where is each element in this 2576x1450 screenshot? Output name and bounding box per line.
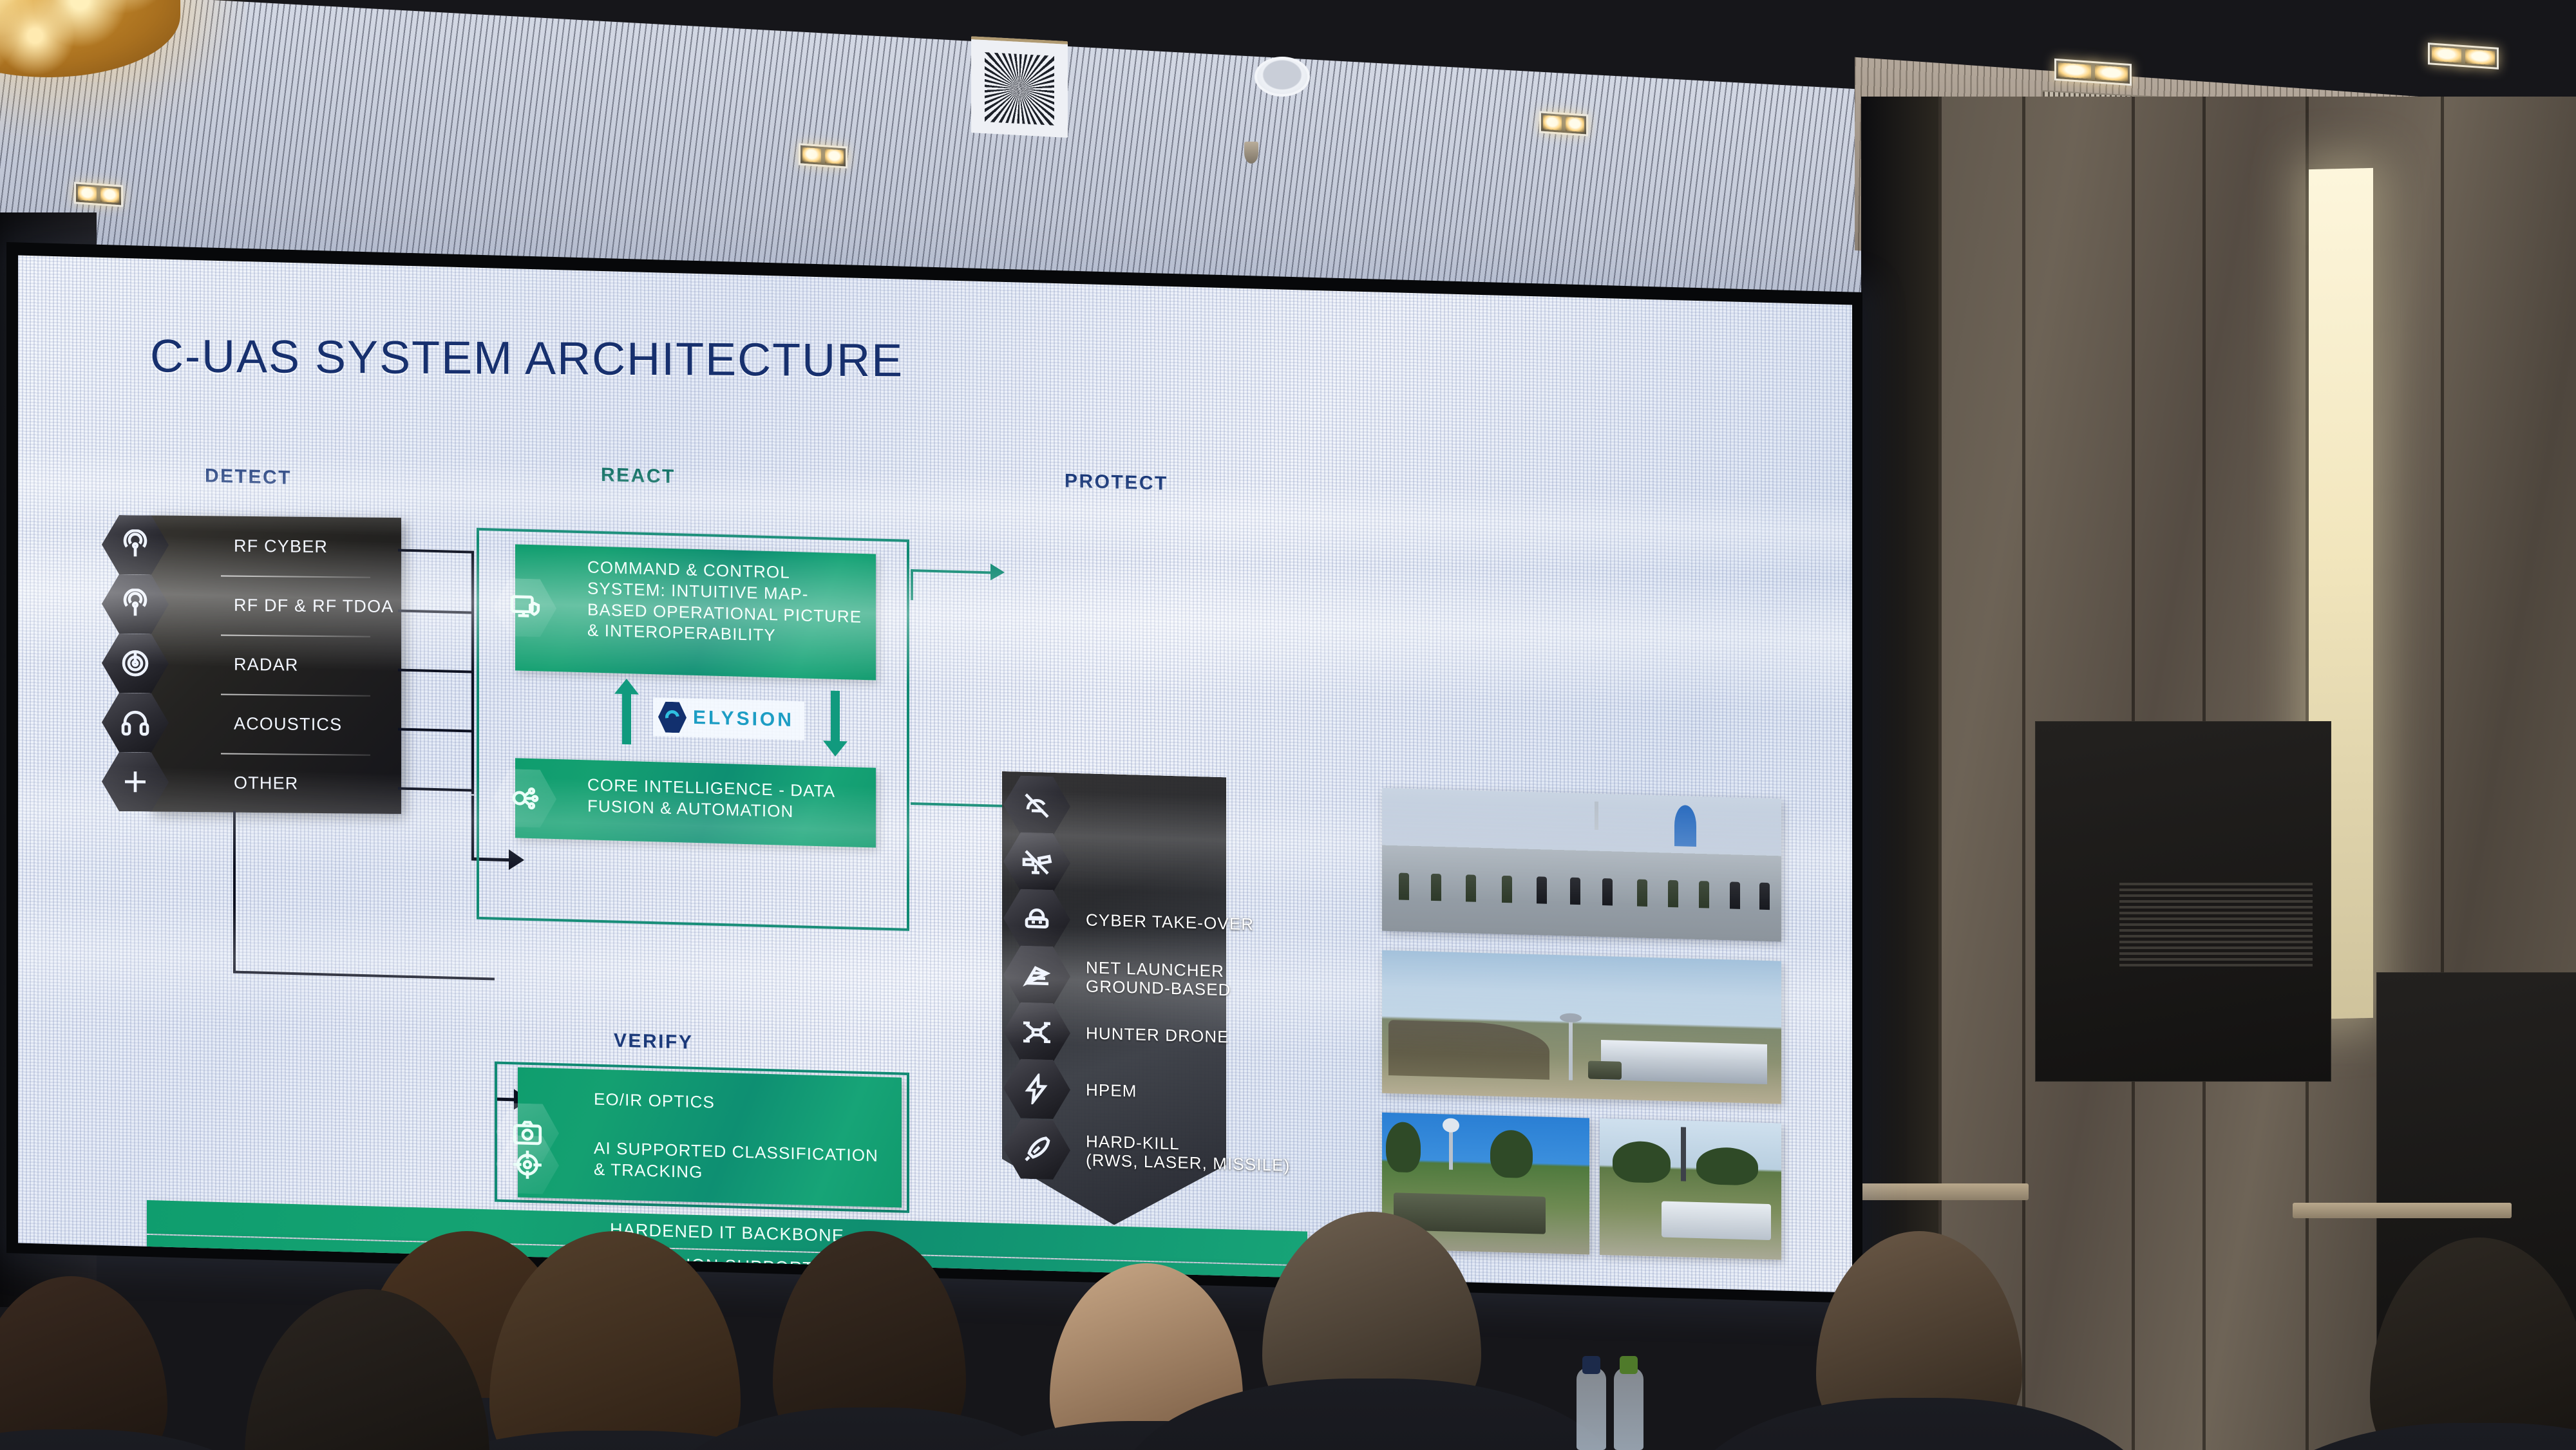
photo-white-van bbox=[1600, 1118, 1781, 1260]
quadcopter-icon bbox=[1003, 1002, 1070, 1063]
protect-item-label: HPEM bbox=[1086, 1081, 1137, 1101]
elysion-label: ELYSION bbox=[693, 707, 794, 731]
elysion-hex-icon bbox=[658, 701, 687, 733]
recessed-downlight bbox=[74, 182, 123, 207]
detect-item-label: OTHER bbox=[234, 773, 299, 793]
projection-screen-frame: C-UAS SYSTEM ARCHITECTURE DETECT REACT V… bbox=[6, 242, 1862, 1303]
photo-group-ceremony bbox=[1382, 788, 1781, 942]
column-header-detect: DETECT bbox=[205, 465, 292, 489]
detect-item-label: RF CYBER bbox=[234, 536, 328, 557]
protect-item-label-2: GROUND-BASED bbox=[1086, 977, 1231, 999]
conference-room-scene: C-UAS SYSTEM ARCHITECTURE DETECT REACT V… bbox=[0, 0, 2576, 1450]
column-header-protect: PROTECT bbox=[1065, 470, 1168, 494]
plus-icon bbox=[102, 752, 169, 812]
react-to-protect-wire bbox=[911, 569, 913, 600]
connector-wire bbox=[398, 668, 474, 673]
rf-jamming-crossed-icon bbox=[1003, 775, 1070, 836]
core-intelligence-text: CORE INTELLIGENCE - DATA FUSION & AUTOMA… bbox=[587, 774, 867, 824]
recessed-downlight bbox=[1539, 111, 1588, 136]
sprinkler-head bbox=[1244, 142, 1258, 164]
elysion-badge: ELYSION bbox=[653, 697, 804, 740]
verify-box[interactable]: EO/IR OPTICS AI SUPPORTED CLASSIFICATION… bbox=[518, 1067, 902, 1207]
connector-wire bbox=[233, 971, 495, 981]
detect-item-acoustics[interactable]: ACOUSTICS bbox=[150, 693, 401, 755]
connector-wire bbox=[471, 796, 474, 860]
arrow-up-icon bbox=[622, 693, 631, 744]
recessed-downlight bbox=[799, 143, 848, 168]
lightning-bolt-icon bbox=[1003, 1059, 1070, 1120]
connector-arrowhead bbox=[990, 563, 1005, 581]
detect-item-rf-df-tdoa[interactable]: RF DF & RF TDOA bbox=[150, 574, 401, 636]
radar-sweep-icon bbox=[102, 634, 169, 693]
water-bottle bbox=[1577, 1368, 1606, 1450]
connector-wire bbox=[233, 811, 236, 974]
verify-item-2-label: AI SUPPORTED CLASSIFICATION & TRACKING bbox=[594, 1138, 893, 1188]
column-header-verify: VERIFY bbox=[614, 1030, 693, 1054]
swirl-air-diffuser bbox=[971, 36, 1068, 138]
audience-person bbox=[0, 1276, 167, 1450]
rf-antenna-icon bbox=[102, 574, 169, 634]
react-to-protect-wire bbox=[911, 569, 996, 574]
presentation-slide: C-UAS SYSTEM ARCHITECTURE DETECT REACT V… bbox=[18, 255, 1852, 1292]
protect-item-net-launcher[interactable]: NET LAUNCHER GROUND-BASED bbox=[1003, 946, 1306, 1012]
connector-wire bbox=[398, 787, 474, 791]
connector-bus bbox=[471, 551, 474, 795]
detect-item-radar[interactable]: RADAR bbox=[150, 634, 401, 695]
protect-item-gnss-jamming[interactable] bbox=[1003, 833, 1306, 898]
detect-item-label: ACOUSTICS bbox=[234, 714, 342, 735]
protect-item-label-2: (RWS, LASER, MISSILE) bbox=[1086, 1151, 1290, 1175]
photo-bunker-radar bbox=[1382, 950, 1781, 1104]
headphones-icon bbox=[102, 693, 169, 753]
detect-item-other[interactable]: OTHER bbox=[150, 752, 401, 814]
missile-icon bbox=[1003, 1119, 1070, 1180]
round-vent bbox=[1255, 57, 1310, 97]
react-to-protect-wire bbox=[911, 802, 1007, 807]
protect-item-hunter-drone[interactable]: HUNTER DRONE bbox=[1003, 1003, 1306, 1068]
protect-item-label: HUNTER DRONE bbox=[1086, 1024, 1229, 1047]
av-cabinet bbox=[2035, 721, 2331, 1082]
net-launcher-icon bbox=[1003, 945, 1070, 1006]
table-ledge bbox=[2293, 1203, 2512, 1218]
detect-item-rf-cyber[interactable]: RF CYBER bbox=[150, 515, 401, 577]
detect-panel: RF CYBER RF DF & RF TDOA RADAR bbox=[150, 515, 401, 814]
command-control-text: COMMAND & CONTROL SYSTEM: INTUITIVE MAP-… bbox=[587, 556, 867, 648]
protect-item-label: CYBER TAKE-OVER bbox=[1086, 911, 1254, 934]
detect-item-label: RADAR bbox=[234, 655, 299, 675]
detect-item-label: RF DF & RF TDOA bbox=[234, 596, 394, 617]
protect-item-cyber-takeover[interactable]: CYBER TAKE-OVER bbox=[1003, 890, 1306, 955]
water-bottle bbox=[1614, 1368, 1643, 1450]
protect-item-hard-kill[interactable]: HARD-KILL (RWS, LASER, MISSILE) bbox=[1003, 1116, 1306, 1189]
command-control-box[interactable]: COMMAND & CONTROL SYSTEM: INTUITIVE MAP-… bbox=[515, 544, 876, 680]
projection-screen: C-UAS SYSTEM ARCHITECTURE DETECT REACT V… bbox=[18, 255, 1852, 1292]
protect-column: CYBER TAKE-OVER NET LAUNCHER GROUND-BASE… bbox=[1003, 777, 1306, 1189]
connector-wire bbox=[398, 549, 474, 553]
hacker-icon bbox=[1003, 889, 1070, 950]
verify-item-1-label: EO/IR OPTICS bbox=[594, 1089, 893, 1118]
core-intelligence-box[interactable]: CORE INTELLIGENCE - DATA FUSION & AUTOMA… bbox=[515, 758, 876, 847]
rf-antenna-icon bbox=[102, 515, 169, 575]
connector-wire bbox=[398, 609, 474, 614]
slide-title: C-UAS SYSTEM ARCHITECTURE bbox=[150, 330, 904, 387]
protect-item-hpem[interactable]: HPEM bbox=[1003, 1060, 1306, 1125]
column-header-react: REACT bbox=[601, 464, 676, 488]
water-bottles bbox=[1577, 1353, 1660, 1450]
gnss-jamming-crossed-icon bbox=[1003, 832, 1070, 893]
arrow-down-icon bbox=[831, 691, 840, 742]
connector-wire bbox=[398, 728, 474, 732]
protect-item-rf-jamming[interactable] bbox=[1003, 777, 1306, 842]
recessed-downlight bbox=[2428, 42, 2499, 70]
